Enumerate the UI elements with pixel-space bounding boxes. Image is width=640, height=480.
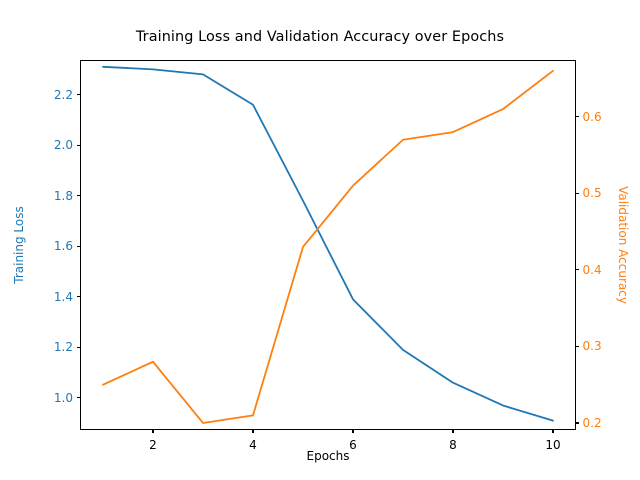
y-left-tick-label: 1.4 <box>28 290 73 304</box>
chart-title: Training Loss and Validation Accuracy ov… <box>0 29 640 46</box>
y-right-tick-mark <box>576 422 580 423</box>
y-left-tick-mark <box>77 145 81 146</box>
y-right-tick-label: 0.2 <box>583 416 602 430</box>
x-tick-label: 6 <box>349 438 357 452</box>
x-tick-mark <box>352 430 353 434</box>
y-left-tick-mark <box>77 195 81 196</box>
y-right-tick-label: 0.4 <box>583 263 602 277</box>
x-tick-mark <box>552 430 553 434</box>
x-tick-mark <box>452 430 453 434</box>
y-left-tick-label: 1.2 <box>28 340 73 354</box>
x-tick-label: 10 <box>545 438 560 452</box>
y-left-tick-mark <box>77 347 81 348</box>
y-right-tick-label: 0.6 <box>583 110 602 124</box>
y-left-tick-mark <box>77 296 81 297</box>
y-right-tick-label: 0.3 <box>583 339 602 353</box>
x-tick-label: 8 <box>449 438 457 452</box>
plot-area <box>80 60 576 430</box>
x-tick-label: 4 <box>249 438 257 452</box>
y-right-tick-label: 0.5 <box>583 186 602 200</box>
x-tick-mark <box>252 430 253 434</box>
y-right-tick-mark <box>576 193 580 194</box>
y-left-tick-label: 1.6 <box>28 239 73 253</box>
x-tick-mark <box>152 430 153 434</box>
y-left-tick-mark <box>77 246 81 247</box>
chart-figure: Training Loss and Validation Accuracy ov… <box>0 0 640 480</box>
y-axis-left-label: Training Loss <box>12 206 26 283</box>
x-axis-label: Epochs <box>307 449 350 463</box>
y-left-tick-mark <box>77 94 81 95</box>
y-left-tick-mark <box>77 397 81 398</box>
y-left-tick-label: 2.0 <box>28 138 73 152</box>
y-left-tick-label: 1.0 <box>28 391 73 405</box>
y-right-tick-mark <box>576 269 580 270</box>
y-left-tick-label: 1.8 <box>28 189 73 203</box>
x-tick-label: 2 <box>149 438 157 452</box>
y-left-tick-label: 2.2 <box>28 88 73 102</box>
y-right-tick-mark <box>576 116 580 117</box>
y-right-tick-mark <box>576 346 580 347</box>
y-axis-right-label: Validation Accuracy <box>616 186 630 304</box>
